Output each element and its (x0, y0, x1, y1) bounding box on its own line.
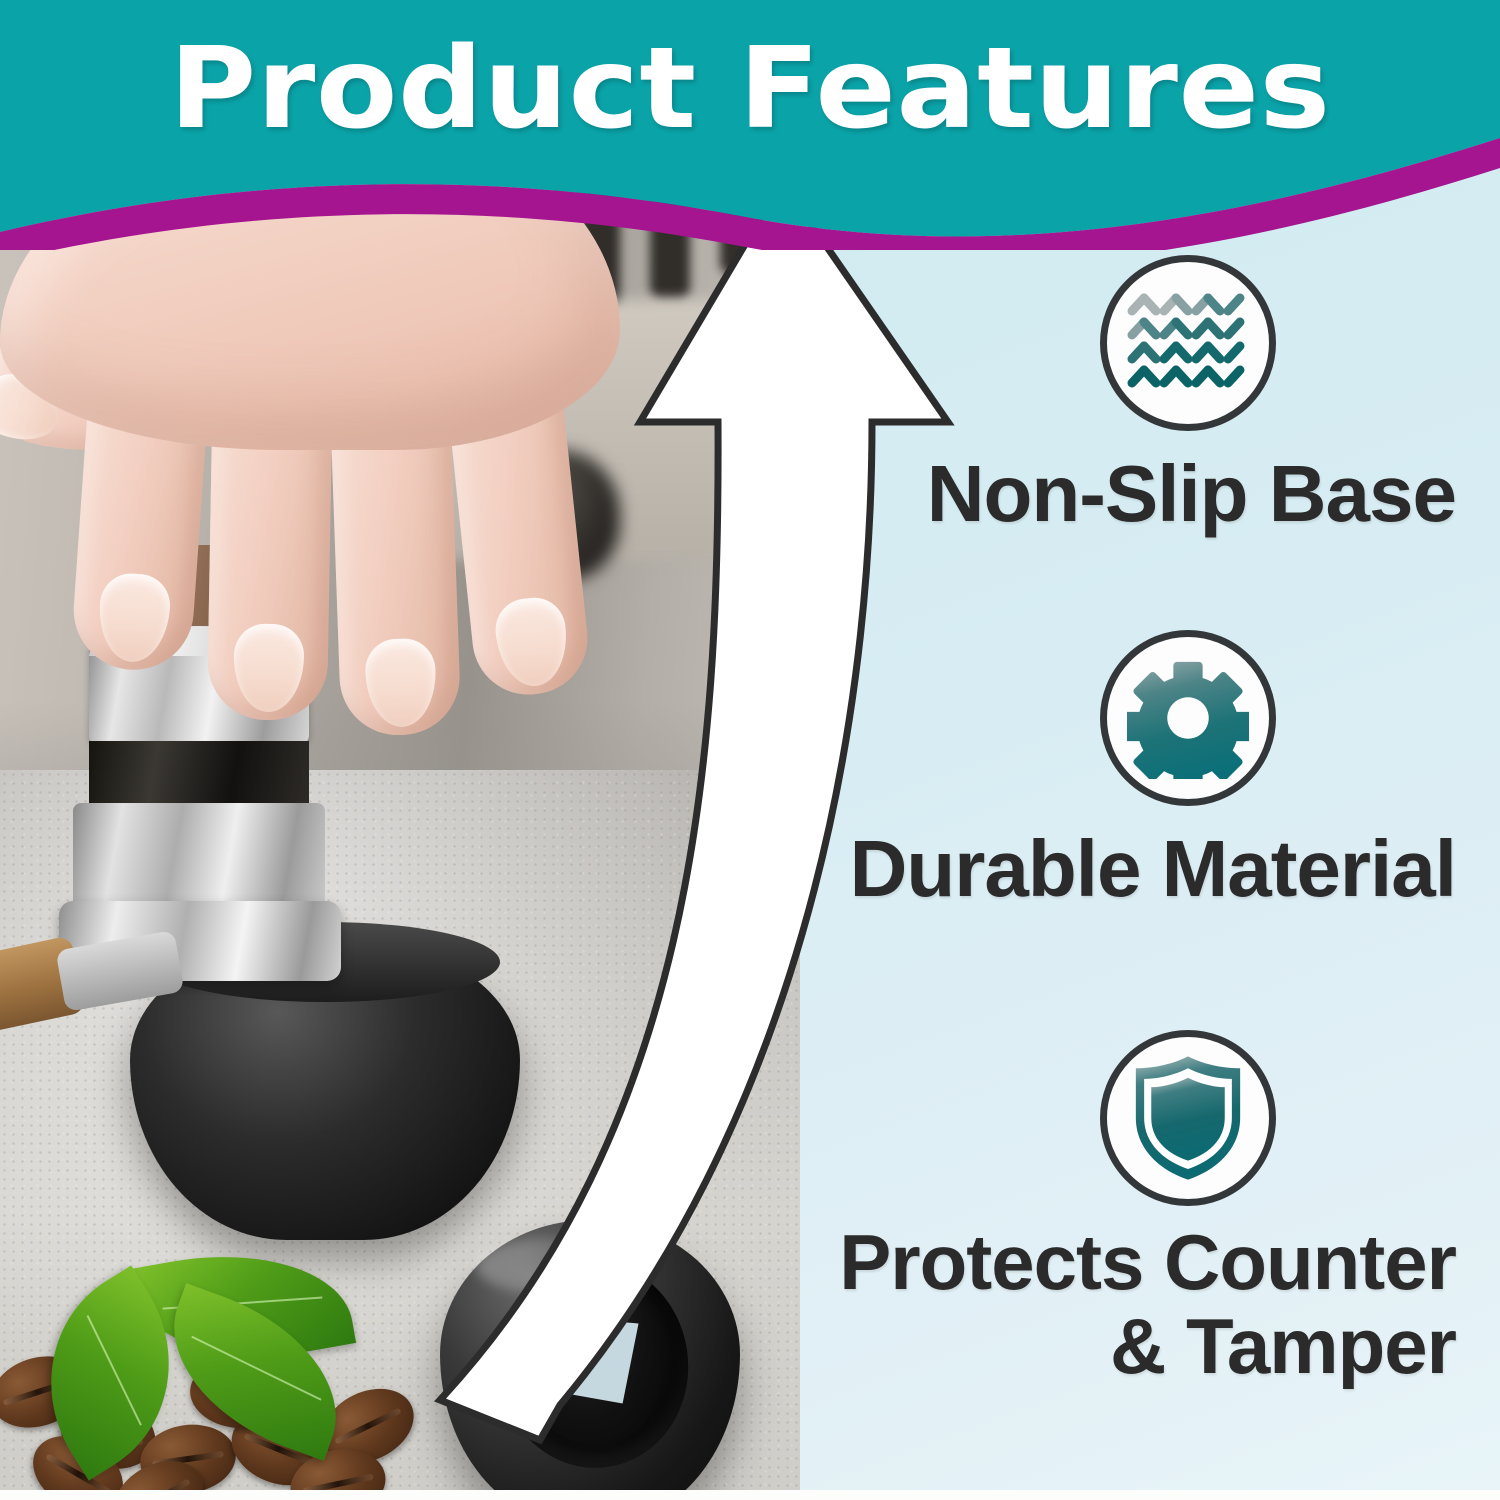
finger-nail (492, 595, 571, 690)
ring-highlight (476, 1238, 626, 1294)
feature-list: Non-Slip Base Durable Mater (760, 245, 1500, 1475)
finger-nail (233, 623, 305, 712)
bottom-edge-strip (0, 1490, 1500, 1500)
product-photo-collage (0, 150, 800, 1500)
non-slip-texture-icon (1100, 255, 1276, 431)
header-band: Product Features (0, 0, 1500, 250)
silicone-ring-product-shot (440, 1220, 740, 1500)
finger-nail (96, 571, 172, 664)
page-title: Product Features (0, 24, 1500, 154)
gear-icon (1100, 630, 1276, 806)
feature-label-protects-counter: Protects Counter & Tamper (760, 1220, 1500, 1388)
finger-nail (364, 638, 437, 728)
feature-label-non-slip-base: Non-Slip Base (760, 453, 1500, 535)
feature-label-durable-material: Durable Material (760, 828, 1500, 910)
shield-icon (1100, 1030, 1276, 1206)
coffee-beans-garnish (0, 1240, 460, 1500)
product-features-poster: Product Features (0, 0, 1500, 1500)
